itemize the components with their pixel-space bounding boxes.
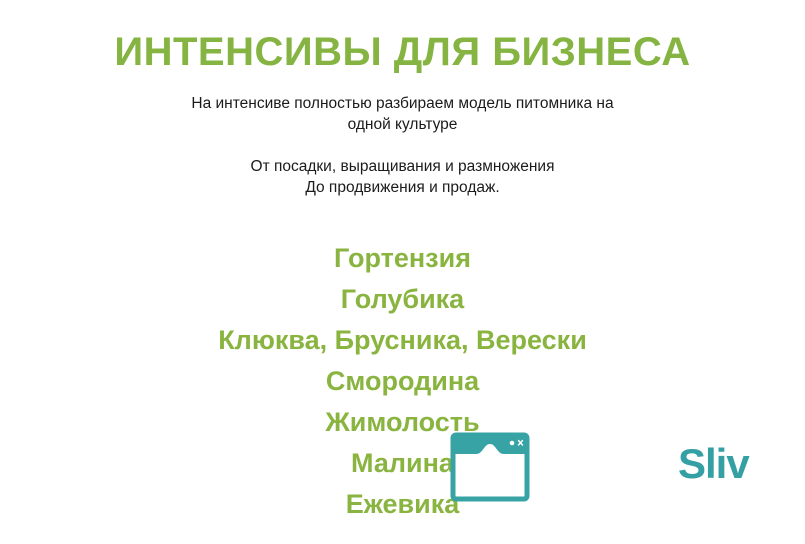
list-item: Клюква, Брусника, Верески <box>0 320 805 361</box>
intro-paragraph-2-line-1: От посадки, выращивания и размножения <box>0 156 805 177</box>
slide-canvas: ИНТЕНСИВЫ ДЛЯ БИЗНЕСА На интенсиве полно… <box>0 0 805 544</box>
page-title: ИНТЕНСИВЫ ДЛЯ БИЗНЕСА <box>0 28 805 76</box>
list-item: Голубика <box>0 279 805 320</box>
list-item: Жимолость <box>0 402 805 443</box>
sliv-logo: Sliv <box>678 442 760 488</box>
svg-text:Sliv: Sliv <box>678 442 750 487</box>
paragraph-spacer <box>0 135 805 156</box>
list-item: Ежевика <box>0 484 805 525</box>
intro-paragraph-1-line-1: На интенсиве полностью разбираем модель … <box>0 93 805 114</box>
window-frame-icon <box>450 432 530 502</box>
intro-paragraph-1-line-2: одной культуре <box>0 114 805 135</box>
intro-paragraph-2-line-2: До продвижения и продаж. <box>0 177 805 198</box>
intro-text-block: На интенсиве полностью разбираем модель … <box>0 93 805 198</box>
list-item: Смородина <box>0 361 805 402</box>
list-item: Гортензия <box>0 238 805 279</box>
